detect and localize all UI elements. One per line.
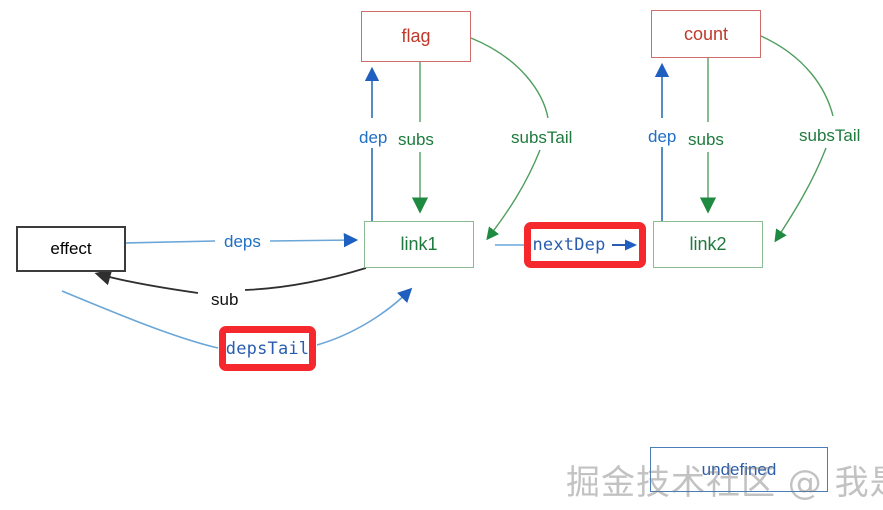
edge-label-subs-flag: subs (396, 130, 436, 150)
node-link1-label: link1 (400, 234, 437, 255)
node-link2[interactable]: link2 (653, 221, 763, 268)
diagram-canvas: effect flag count link1 link2 undefined … (0, 0, 883, 510)
node-effect-label: effect (50, 239, 91, 259)
highlight-nextdep[interactable]: nextDep (524, 222, 646, 268)
edge-label-sub-effect: sub (209, 290, 240, 310)
node-count-label: count (684, 24, 728, 45)
node-flag-label: flag (401, 26, 430, 47)
edge-label-substail-count: subsTail (797, 126, 862, 146)
edge-label-dep-count: dep (646, 127, 678, 147)
node-link1[interactable]: link1 (364, 221, 474, 268)
edge-substail-count-upper (761, 36, 833, 116)
edge-depstail-right (317, 290, 410, 345)
edge-depstail-left (62, 291, 218, 348)
edge-deps-effect-left (126, 241, 215, 243)
edge-label-deps-effect: deps (222, 232, 263, 252)
edge-label-subs-count: subs (686, 130, 726, 150)
node-link2-label: link2 (689, 234, 726, 255)
node-undefined[interactable]: undefined (650, 447, 828, 492)
edge-label-substail-flag: subsTail (509, 128, 574, 148)
edge-substail-flag-upper (471, 38, 548, 118)
edge-label-dep-flag: dep (357, 128, 389, 148)
highlight-depstail[interactable]: depsTail (219, 326, 316, 371)
highlight-depstail-label: depsTail (226, 339, 309, 359)
highlight-nextdep-label: nextDep (532, 235, 605, 255)
node-undefined-label: undefined (702, 460, 777, 480)
edge-substail-count-lower (776, 148, 826, 240)
node-count[interactable]: count (651, 10, 761, 58)
edge-sub-left (98, 274, 198, 293)
edge-sub-right (245, 268, 366, 290)
arrow-right-icon (612, 239, 638, 251)
node-effect[interactable]: effect (16, 226, 126, 272)
node-flag[interactable]: flag (361, 11, 471, 62)
edge-deps-effect-right (270, 240, 355, 241)
